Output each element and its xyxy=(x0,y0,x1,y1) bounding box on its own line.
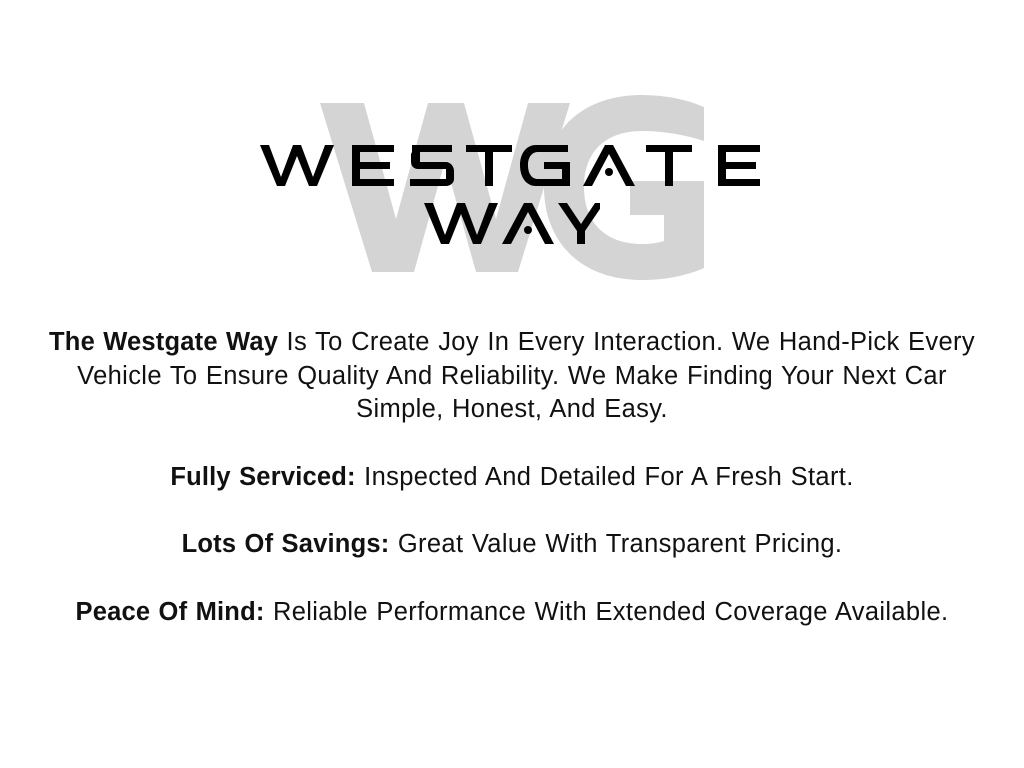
benefit-label: Lots Of Savings: xyxy=(182,530,390,558)
benefit-label: Peace Of Mind: xyxy=(76,598,265,626)
body-copy: The Westgate Way Is To Create Joy In Eve… xyxy=(0,326,1024,629)
wordmark-line-way xyxy=(0,199,1024,247)
benefit-peace-of-mind: Peace Of Mind: Reliable Performance With… xyxy=(0,596,1024,630)
paragraph-intro: The Westgate Way Is To Create Joy In Eve… xyxy=(0,326,1024,427)
benefit-label: Fully Serviced: xyxy=(170,463,355,491)
benefit-text: Great Value With Transparent Pricing. xyxy=(389,530,842,558)
wordmark-line-westgate xyxy=(0,141,1024,189)
benefit-text: Reliable Performance With Extended Cover… xyxy=(265,598,949,626)
intro-lead: The Westgate Way xyxy=(49,328,278,356)
slide-canvas: The Westgate Way Is To Create Joy In Eve… xyxy=(0,0,1024,768)
wordmark xyxy=(0,95,1024,247)
logo-block xyxy=(0,95,1024,290)
benefit-lots-of-savings: Lots Of Savings: Great Value With Transp… xyxy=(0,528,1024,562)
benefit-fully-serviced: Fully Serviced: Inspected And Detailed F… xyxy=(0,461,1024,495)
benefit-text: Inspected And Detailed For A Fresh Start… xyxy=(356,463,854,491)
